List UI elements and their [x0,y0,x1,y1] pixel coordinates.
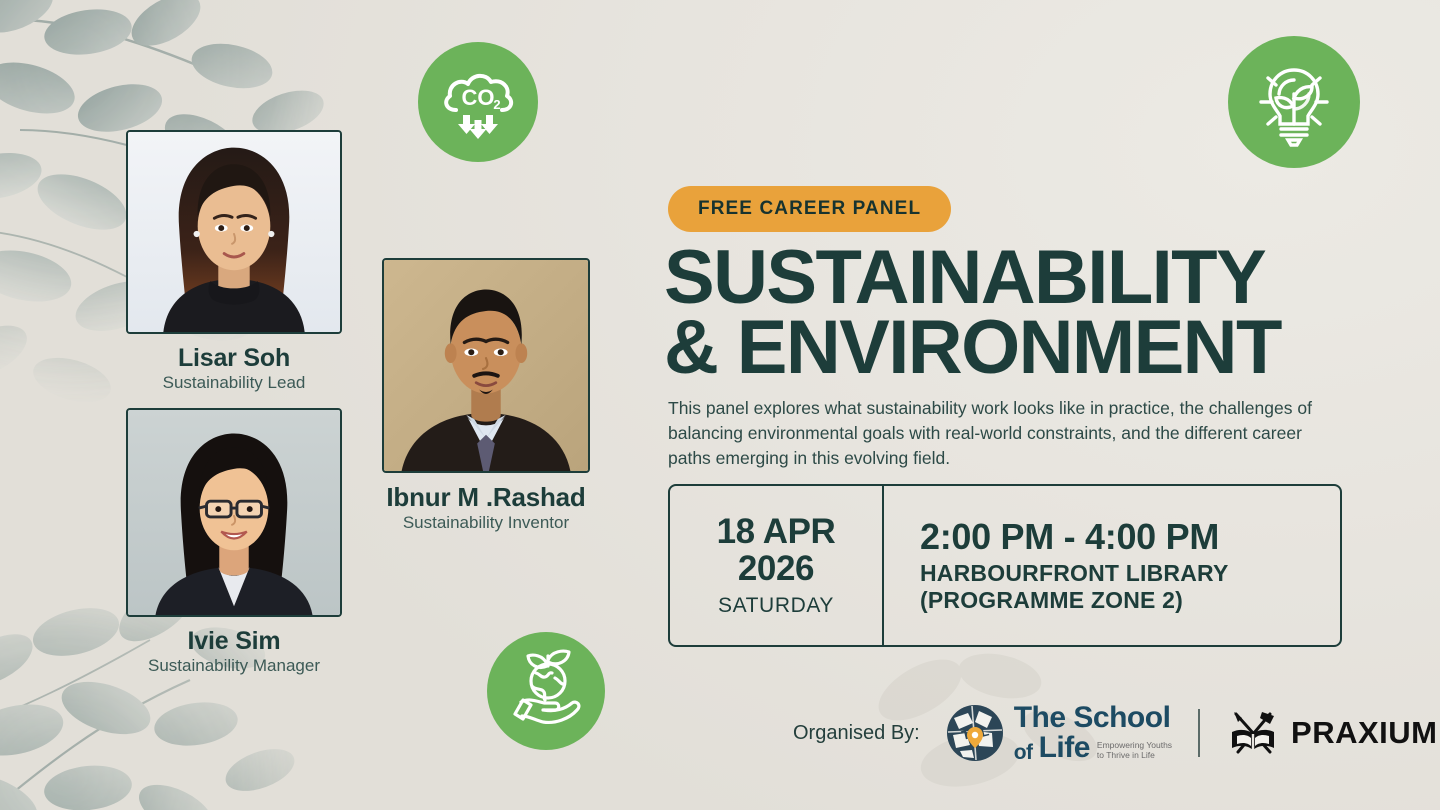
page-title: SUSTAINABILITY & ENVIRONMENT [664,243,1281,383]
event-weekday: SATURDAY [718,594,834,618]
page-title-line-1: SUSTAINABILITY [664,243,1281,313]
event-date-line-2: 2026 [717,550,836,587]
panel-description: This panel explores what sustainability … [668,396,1340,471]
speaker-photo-1 [126,130,342,334]
tsol-line-2: Life [1039,733,1090,763]
speaker-name-1: Lisar Soh [126,345,342,371]
speaker-role-1: Sustainability Lead [126,373,342,393]
tsol-tagline-line-2: to Thrive in Life [1097,750,1172,761]
event-venue-line-2: (PROGRAMME ZONE 2) [920,587,1340,614]
speaker-photo-3 [382,258,590,473]
event-time-venue-block: 2:00 PM - 4:00 PM HARBOURFRONT LIBRARY (… [884,486,1340,645]
tsol-wordmark: The School of Life Empowering Youths to … [1014,703,1172,763]
footer-divider [1198,709,1200,757]
the-school-of-life-logo: TS L The School of Life Empowering Youth… [946,703,1172,763]
tsol-mark-icon: TS L [946,704,1004,762]
page-title-line-2: & ENVIRONMENT [664,313,1281,383]
tsol-line-1: The School [1014,703,1172,733]
co2-cloud-icon: CO 2 [418,42,538,162]
footer-organisers: Organised By: TS L [793,700,1438,766]
praxium-wordmark: PRAXIUM [1291,715,1437,751]
speaker-card-2: Ivie Sim Sustainability Manager [126,408,342,676]
organised-by-label: Organised By: [793,722,920,745]
svg-text:CO: CO [462,85,495,110]
speaker-role-2: Sustainability Manager [126,656,342,676]
praxium-mark-icon [1226,706,1280,760]
speaker-card-1: Lisar Soh Sustainability Lead [126,130,342,393]
speaker-card-3: Ibnur M .Rashad Sustainability Inventor [382,258,590,533]
event-date-line-1: 18 APR [717,513,836,550]
speaker-name-2: Ivie Sim [126,628,342,654]
free-career-panel-badge: FREE CAREER PANEL [668,186,951,232]
speaker-role-3: Sustainability Inventor [382,513,590,533]
praxium-logo: PRAXIUM [1226,706,1437,760]
event-time: 2:00 PM - 4:00 PM [920,517,1340,557]
tsol-tagline: Empowering Youths to Thrive in Life [1097,740,1172,761]
hand-holding-earth-icon [487,632,605,750]
event-venue-line-1: HARBOURFRONT LIBRARY [920,560,1340,587]
tsol-of: of [1014,742,1033,763]
event-date-block: 18 APR 2026 SATURDAY [670,486,884,645]
tsol-tagline-line-1: Empowering Youths [1097,740,1172,751]
speaker-name-3: Ibnur M .Rashad [382,484,590,511]
event-poster: CO 2 [0,0,1440,810]
svg-text:2: 2 [493,97,500,112]
speaker-photo-2 [126,408,342,617]
event-details-box: 18 APR 2026 SATURDAY 2:00 PM - 4:00 PM H… [668,484,1342,647]
lightbulb-sprout-icon [1228,36,1360,168]
